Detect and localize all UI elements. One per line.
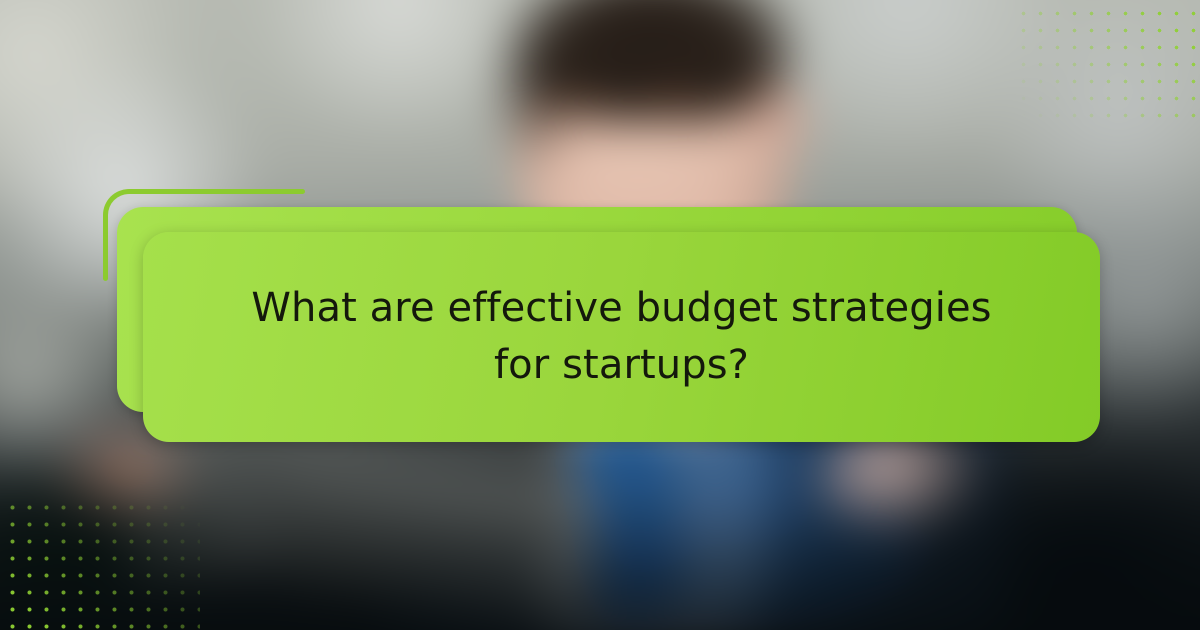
subject-eyebrow-right: [630, 81, 713, 115]
social-card-canvas: What are effective budget strategies for…: [0, 0, 1200, 630]
dot-pattern-top-right-icon: [1010, 0, 1200, 130]
dot-pattern-bottom-left-icon: [0, 495, 200, 630]
subject-cheek: [751, 87, 825, 151]
question-title: What are effective budget strategies for…: [143, 232, 1100, 442]
subject-eyebrow-left: [553, 87, 617, 117]
